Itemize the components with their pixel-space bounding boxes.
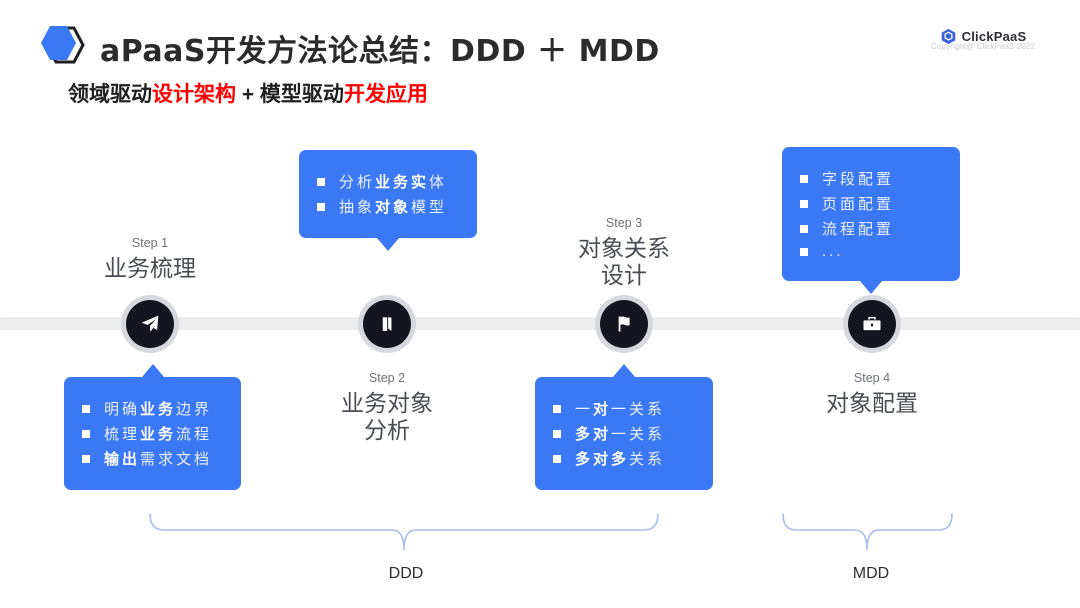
- bullet-square-icon: [82, 455, 90, 463]
- bullet-square-icon: [317, 203, 325, 211]
- timeline-node-2[interactable]: [363, 300, 411, 348]
- callout-step-4: 字段配置页面配置流程配置...: [782, 147, 960, 281]
- callout-bullet-text: 明确业务边界: [104, 398, 212, 419]
- callout-bullet-text: 流程配置: [822, 218, 894, 239]
- step-title-3: 对象关系 设计: [534, 235, 714, 289]
- bullet-square-icon: [800, 248, 808, 256]
- callout-bullet-row: 流程配置: [800, 218, 940, 239]
- callout-tail: [377, 238, 399, 251]
- callout-step-1: 明确业务边界梳理业务流程输出需求文档: [64, 377, 241, 490]
- callout-tail: [613, 364, 635, 377]
- bullet-square-icon: [800, 200, 808, 208]
- subtitle-part-2: + 模型驱动: [236, 83, 344, 106]
- callout-bullet-row: 明确业务边界: [82, 398, 221, 419]
- step-index-3: Step 3: [534, 216, 714, 230]
- page-title: aPaaS开发方法论总结：DDD ＋ MDD: [100, 26, 660, 70]
- callout-step-3: 一对一关系多对一关系多对多关系: [535, 377, 713, 490]
- callout-bullet-text: 一对一关系: [575, 398, 665, 419]
- subtitle-highlight-2: 开发应用: [344, 83, 428, 106]
- timeline-node-3[interactable]: [600, 300, 648, 348]
- bullet-square-icon: [553, 455, 561, 463]
- callout-bullet-row: 一对一关系: [553, 398, 693, 419]
- callout-bullet-row: 字段配置: [800, 168, 940, 189]
- callout-bullet-text: 多对多关系: [575, 448, 665, 469]
- timeline-node-1[interactable]: [126, 300, 174, 348]
- brace-label-ddd: DDD: [336, 565, 476, 583]
- step-index-1: Step 1: [60, 236, 240, 250]
- callout-bullet-row: 页面配置: [800, 193, 940, 214]
- callout-bullet-text: 多对一关系: [575, 423, 665, 444]
- page-subtitle: 领域驱动设计架构 + 模型驱动开发应用: [68, 78, 428, 108]
- step-label-2: Step 2 业务对象 分析: [297, 371, 477, 444]
- subtitle-highlight-1: 设计架构: [152, 83, 236, 106]
- book-icon: [378, 315, 397, 334]
- hexagon-logo-icon: [34, 22, 90, 70]
- subtitle-part-1: 领域驱动: [68, 83, 152, 106]
- callout-bullet-row: 抽象对象模型: [317, 196, 457, 217]
- step-label-1: Step 1 业务梳理: [60, 236, 240, 282]
- step-title-1: 业务梳理: [60, 255, 240, 282]
- bullet-square-icon: [553, 430, 561, 438]
- bullet-square-icon: [553, 405, 561, 413]
- callout-bullet-row: ...: [800, 243, 940, 260]
- callout-bullet-text: 抽象对象模型: [339, 196, 447, 217]
- paper-plane-icon: [140, 314, 160, 334]
- step-label-4: Step 4 对象配置: [782, 371, 962, 417]
- step-label-3: Step 3 对象关系 设计: [534, 216, 714, 289]
- callout-bullet-row: 输出需求文档: [82, 448, 221, 469]
- callout-bullet-text: 字段配置: [822, 168, 894, 189]
- callout-bullet-row: 多对一关系: [553, 423, 693, 444]
- callout-bullet-text: 梳理业务流程: [104, 423, 212, 444]
- step-title-4: 对象配置: [782, 390, 962, 417]
- callout-tail: [142, 364, 164, 377]
- callout-bullet-text: 输出需求文档: [104, 448, 212, 469]
- step-index-2: Step 2: [297, 371, 477, 385]
- callout-step-2: 分析业务实体抽象对象模型: [299, 150, 477, 238]
- brand-block: ClickPaaS Copyright@ ClickPaaS 2022: [918, 28, 1048, 51]
- callout-bullet-text: ...: [822, 243, 844, 260]
- flag-icon: [614, 314, 634, 334]
- brace-label-mdd: MDD: [801, 565, 941, 583]
- step-title-2: 业务对象 分析: [297, 390, 477, 444]
- callout-bullet-row: 多对多关系: [553, 448, 693, 469]
- brace-mdd: [780, 512, 962, 554]
- step-index-4: Step 4: [782, 371, 962, 385]
- callout-bullet-row: 梳理业务流程: [82, 423, 221, 444]
- bullet-square-icon: [800, 225, 808, 233]
- bullet-square-icon: [82, 405, 90, 413]
- timeline-node-4[interactable]: [848, 300, 896, 348]
- bullet-square-icon: [317, 178, 325, 186]
- brand-copyright: Copyright@ ClickPaaS 2022: [918, 42, 1048, 51]
- callout-bullet-row: 分析业务实体: [317, 171, 457, 192]
- bullet-square-icon: [82, 430, 90, 438]
- briefcase-icon: [862, 314, 882, 334]
- callout-bullet-text: 分析业务实体: [339, 171, 447, 192]
- bullet-square-icon: [800, 175, 808, 183]
- callout-tail: [860, 281, 882, 294]
- brace-ddd: [146, 512, 666, 554]
- callout-bullet-text: 页面配置: [822, 193, 894, 214]
